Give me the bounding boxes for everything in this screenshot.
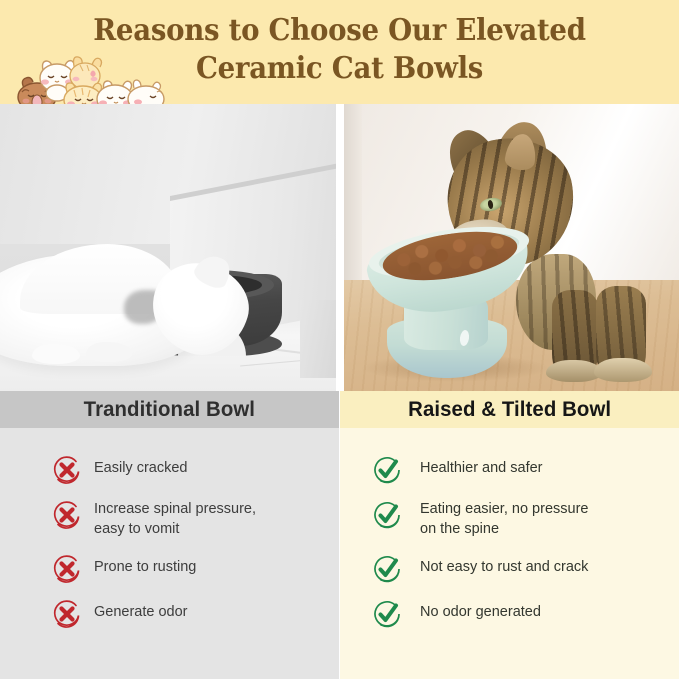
page-title-line-2: Ceramic Cat Bowls <box>196 51 483 86</box>
comparison-labels: Tranditional Bowl Raised & Tilted Bowl <box>0 391 679 428</box>
photo-divider <box>336 104 344 391</box>
x-mark-icon <box>52 599 82 629</box>
raised-tilted-bowl-photo <box>340 104 679 391</box>
benefit-item: Eating easier, no pressure on the spine <box>340 499 679 539</box>
drawback-item: Generate odor <box>0 598 339 629</box>
raised-tilted-bowl-label: Raised & Tilted Bowl <box>408 398 611 422</box>
benefit-item: No odor generated <box>340 598 679 629</box>
traditional-bowl-label-bar: Tranditional Bowl <box>0 391 339 428</box>
header-banner: Reasons to Choose Our ElevatedCeramic Ca… <box>0 0 679 104</box>
comparison-photos <box>0 104 679 391</box>
cute-cats-group-icon <box>12 52 172 104</box>
x-mark-icon <box>52 554 82 584</box>
drawback-item: Easily cracked <box>0 454 339 485</box>
check-mark-icon <box>372 455 402 485</box>
traditional-bowl-photo <box>0 104 339 391</box>
drawback-label: Easily cracked <box>94 454 187 478</box>
benefit-label: No odor generated <box>420 598 541 622</box>
benefit-label: Not easy to rust and crack <box>420 553 588 577</box>
page-title-line-1: Reasons to Choose Our Elevated <box>93 13 585 48</box>
drawback-label: Generate odor <box>94 598 188 622</box>
left-photo-cabinet <box>300 300 339 378</box>
x-mark-icon <box>52 500 82 530</box>
drawback-label: Increase spinal pressure, easy to vomit <box>94 499 256 539</box>
check-mark-icon <box>372 554 402 584</box>
feature-comparison: Easily cracked Increase spinal pressure,… <box>0 428 679 679</box>
tabby-cat-paw <box>594 358 652 382</box>
benefit-label: Healthier and safer <box>420 454 543 478</box>
x-mark-icon <box>52 455 82 485</box>
raised-bowl-benefits-list: Healthier and safer Eating easier, no pr… <box>340 428 679 679</box>
raised-tilted-bowl-label-bar: Raised & Tilted Bowl <box>340 391 679 428</box>
white-cat-paw <box>32 344 80 364</box>
benefit-item: Healthier and safer <box>340 454 679 485</box>
drawback-item: Increase spinal pressure, easy to vomit <box>0 499 339 539</box>
drawback-item: Prone to rusting <box>0 553 339 584</box>
traditional-bowl-drawbacks-list: Easily cracked Increase spinal pressure,… <box>0 428 339 679</box>
check-mark-icon <box>372 500 402 530</box>
white-cat-paw <box>86 342 132 362</box>
traditional-bowl-label: Tranditional Bowl <box>84 398 255 422</box>
benefit-label: Eating easier, no pressure on the spine <box>420 499 588 539</box>
cat-bowl-comparison-infographic: Reasons to Choose Our ElevatedCeramic Ca… <box>0 0 679 679</box>
benefit-item: Not easy to rust and crack <box>340 553 679 584</box>
check-mark-icon <box>372 599 402 629</box>
drawback-label: Prone to rusting <box>94 553 196 577</box>
